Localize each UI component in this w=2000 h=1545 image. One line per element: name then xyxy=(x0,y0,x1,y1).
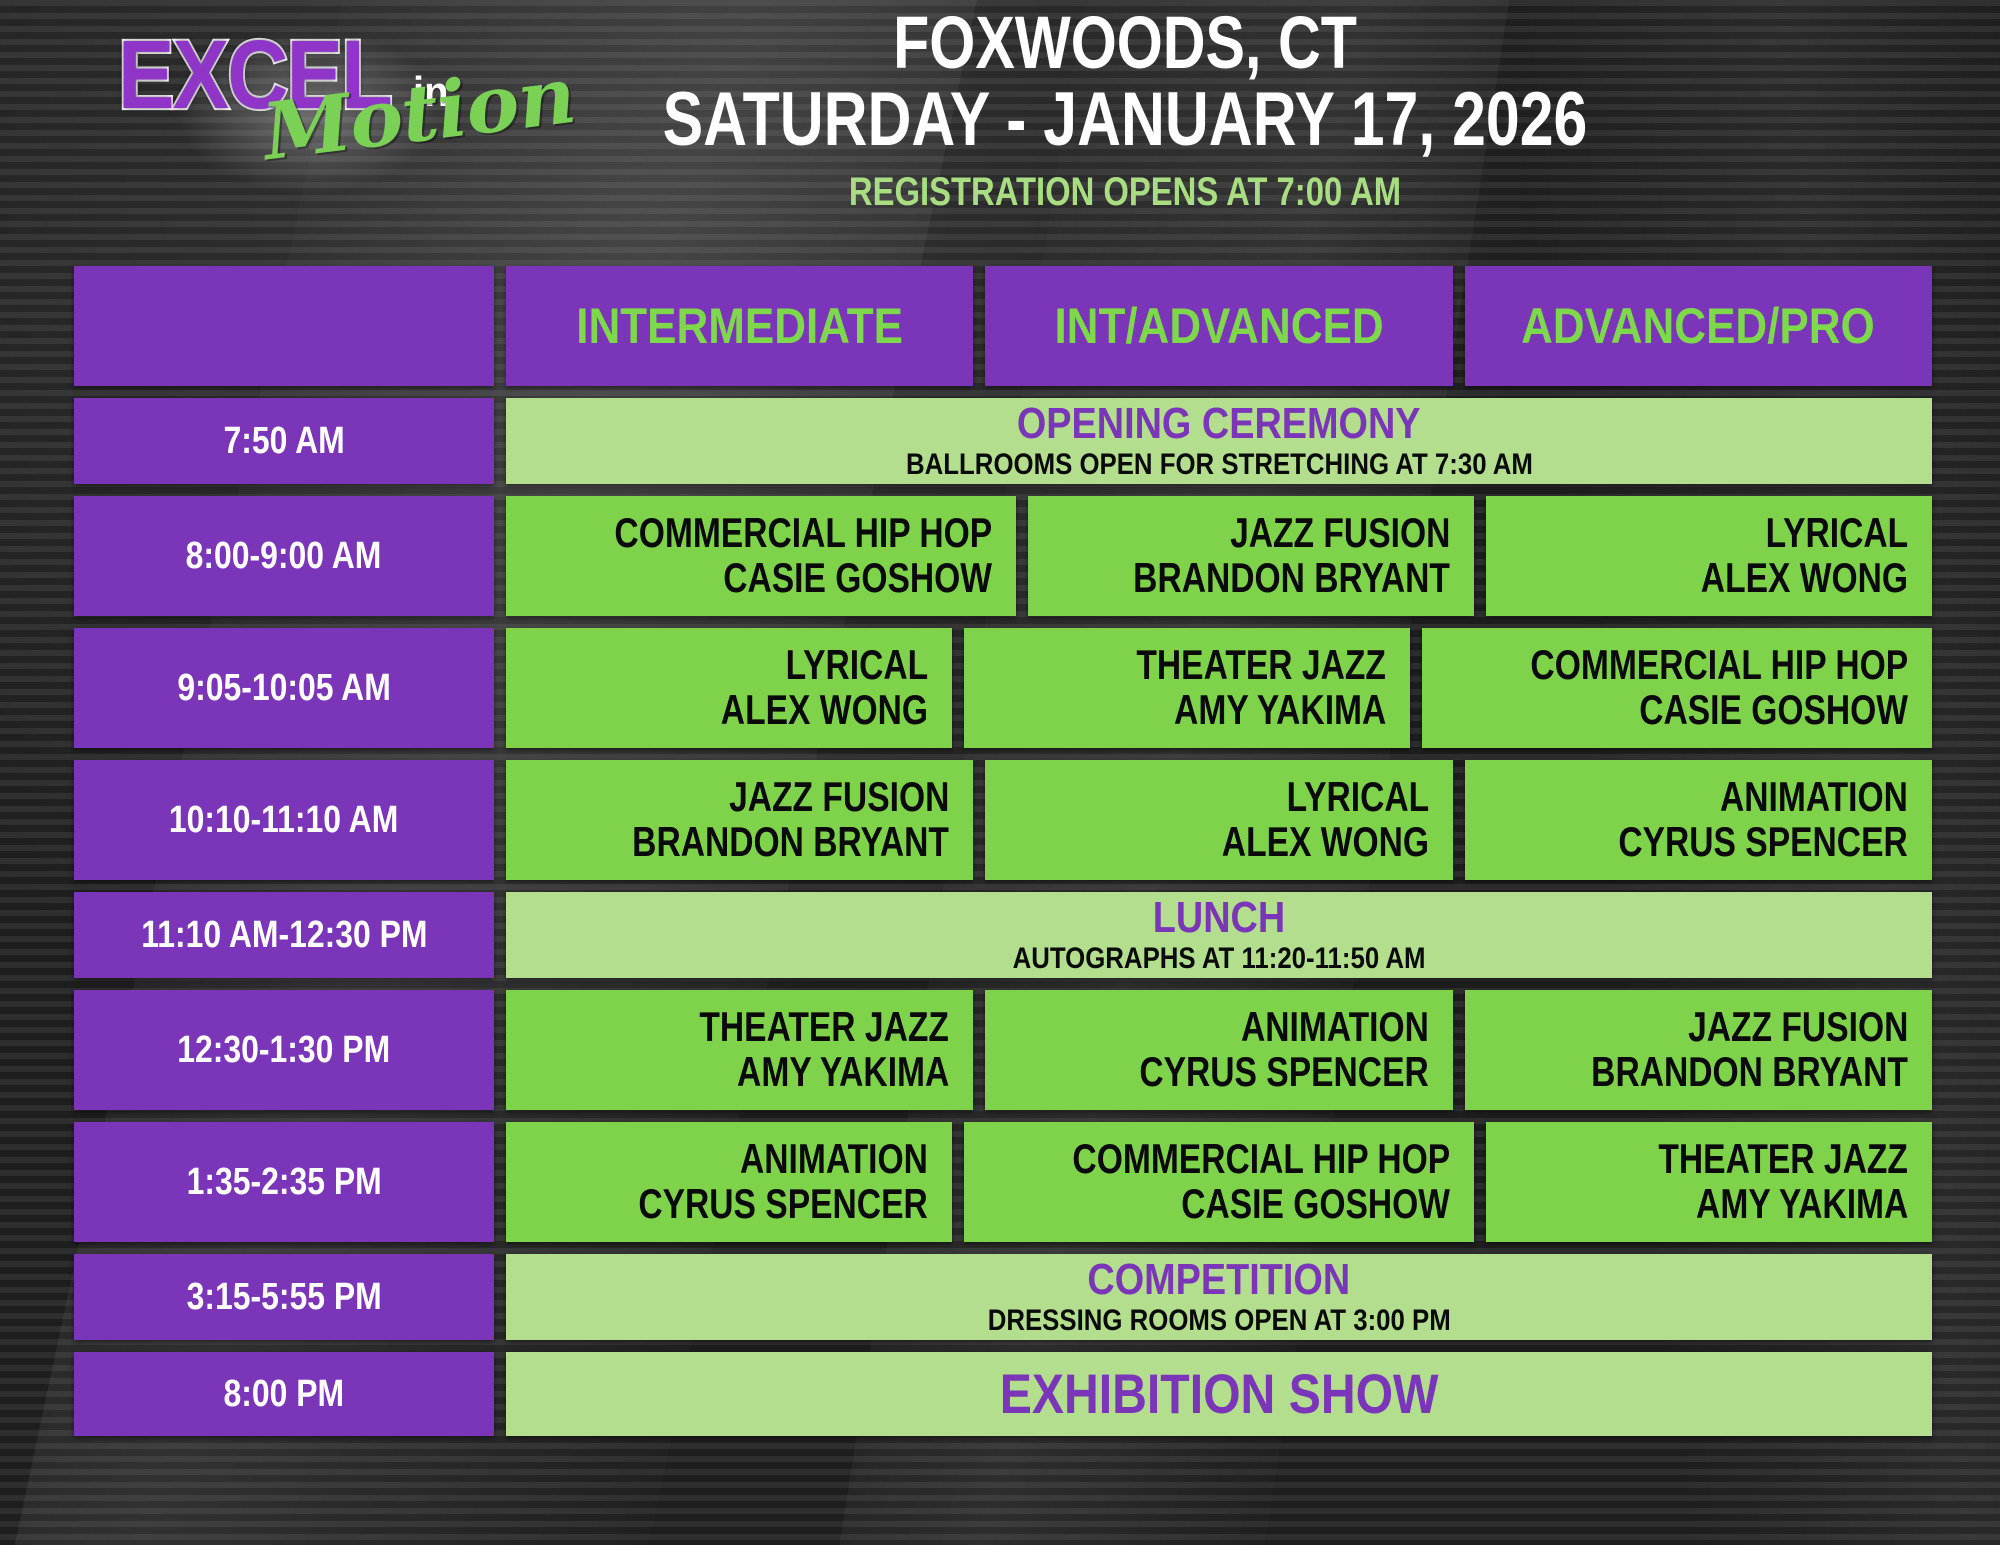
poster-header: EXCEL in Motion FOXWOODS, CT SATURDAY - … xyxy=(0,0,2000,262)
class-style: JAZZ FUSION xyxy=(1230,511,1450,556)
schedule-grid: INTERMEDIATE INT/ADVANCED ADVANCED/PRO 7… xyxy=(74,266,1932,1436)
class-cell[interactable]: JAZZ FUSION BRANDON BRYANT xyxy=(1028,496,1474,616)
class-cell[interactable]: ANIMATION CYRUS SPENCER xyxy=(985,990,1452,1110)
class-cell[interactable]: COMMERCIAL HIP HOP CASIE GOSHOW xyxy=(1422,628,1932,748)
event-subtitle: DRESSING ROOMS OPEN AT 3:00 PM xyxy=(987,1304,1450,1337)
class-style: JAZZ FUSION xyxy=(1688,1005,1908,1050)
class-teacher: CYRUS SPENCER xyxy=(1619,820,1908,865)
class-cell[interactable]: COMMERCIAL HIP HOP CASIE GOSHOW xyxy=(964,1122,1474,1242)
class-style: LYRICAL xyxy=(1286,775,1429,820)
time-label: 8:00-9:00 AM xyxy=(186,535,382,578)
schedule-row: 8:00 PM EXHIBITION SHOW xyxy=(74,1352,1932,1436)
time-cell: 8:00 PM xyxy=(74,1352,494,1436)
class-cell[interactable]: LYRICAL ALEX WONG xyxy=(506,628,952,748)
class-teacher: AMY YAKIMA xyxy=(1696,1182,1908,1227)
class-style: THEATER JAZZ xyxy=(1658,1137,1908,1182)
time-cell: 7:50 AM xyxy=(74,398,494,484)
class-cell[interactable]: JAZZ FUSION BRANDON BRYANT xyxy=(506,760,973,880)
event-title: EXHIBITION SHOW xyxy=(1000,1366,1439,1422)
class-cell[interactable]: THEATER JAZZ AMY YAKIMA xyxy=(964,628,1410,748)
class-teacher: ALEX WONG xyxy=(1701,556,1908,601)
time-label: 8:00 PM xyxy=(224,1373,345,1416)
class-teacher: AMY YAKIMA xyxy=(737,1050,949,1095)
class-style: LYRICAL xyxy=(785,643,928,688)
class-cell[interactable]: JAZZ FUSION BRANDON BRYANT xyxy=(1465,990,1932,1110)
registration-note: REGISTRATION OPENS AT 7:00 AM xyxy=(613,170,1638,215)
time-label: 9:05-10:05 AM xyxy=(177,667,390,710)
class-teacher: CASIE GOSHOW xyxy=(1181,1182,1450,1227)
time-cell: 8:00-9:00 AM xyxy=(74,496,494,616)
class-cell[interactable]: COMMERCIAL HIP HOP CASIE GOSHOW xyxy=(506,496,1016,616)
class-cell[interactable]: THEATER JAZZ AMY YAKIMA xyxy=(1486,1122,1932,1242)
time-cell: 12:30-1:30 PM xyxy=(74,990,494,1110)
class-teacher: CYRUS SPENCER xyxy=(639,1182,928,1227)
column-header-intermediate[interactable]: INTERMEDIATE xyxy=(506,266,973,386)
class-style: ANIMATION xyxy=(1241,1005,1429,1050)
schedule-row: 12:30-1:30 PM THEATER JAZZ AMY YAKIMA AN… xyxy=(74,990,1932,1110)
class-teacher: CASIE GOSHOW xyxy=(1639,688,1908,733)
column-header-label: INT/ADVANCED xyxy=(1054,297,1383,355)
class-cell[interactable]: THEATER JAZZ AMY YAKIMA xyxy=(506,990,973,1110)
class-style: ANIMATION xyxy=(1720,775,1908,820)
class-style: LYRICAL xyxy=(1765,511,1908,556)
column-header-int-advanced[interactable]: INT/ADVANCED xyxy=(985,266,1452,386)
time-label: 1:35-2:35 PM xyxy=(186,1161,381,1204)
event-subtitle: BALLROOMS OPEN FOR STRETCHING AT 7:30 AM xyxy=(906,448,1533,481)
event-banner-opening-ceremony[interactable]: OPENING CEREMONY BALLROOMS OPEN FOR STRE… xyxy=(506,398,1932,484)
class-teacher: BRANDON BRYANT xyxy=(1591,1050,1908,1095)
event-banner-exhibition-show[interactable]: EXHIBITION SHOW xyxy=(506,1352,1932,1436)
event-banner-lunch[interactable]: LUNCH AUTOGRAPHS AT 11:20-11:50 AM xyxy=(506,892,1932,978)
schedule-row: 8:00-9:00 AM COMMERCIAL HIP HOP CASIE GO… xyxy=(74,496,1932,616)
column-header-row: INTERMEDIATE INT/ADVANCED ADVANCED/PRO xyxy=(74,266,1932,386)
class-teacher: BRANDON BRYANT xyxy=(633,820,950,865)
event-title: OPENING CEREMONY xyxy=(1017,402,1421,446)
class-style: THEATER JAZZ xyxy=(700,1005,950,1050)
time-cell: 3:15-5:55 PM xyxy=(74,1254,494,1340)
date-title: SATURDAY - JANUARY 17, 2026 xyxy=(625,84,1625,156)
excel-in-motion-logo: EXCEL in Motion xyxy=(118,6,518,221)
class-teacher: ALEX WONG xyxy=(721,688,928,733)
schedule-row: 1:35-2:35 PM ANIMATION CYRUS SPENCER COM… xyxy=(74,1122,1932,1242)
class-cell[interactable]: ANIMATION CYRUS SPENCER xyxy=(506,1122,952,1242)
schedule-poster: EXCEL in Motion FOXWOODS, CT SATURDAY - … xyxy=(0,0,2000,1545)
class-style: JAZZ FUSION xyxy=(729,775,949,820)
class-style: COMMERCIAL HIP HOP xyxy=(614,511,992,556)
column-header-advanced-pro[interactable]: ADVANCED/PRO xyxy=(1465,266,1932,386)
class-teacher: CYRUS SPENCER xyxy=(1139,1050,1428,1095)
grid-corner-cell xyxy=(74,266,494,386)
time-label: 3:15-5:55 PM xyxy=(186,1276,381,1319)
time-cell: 1:35-2:35 PM xyxy=(74,1122,494,1242)
venue-title: FOXWOODS, CT xyxy=(625,8,1625,78)
class-cell[interactable]: ANIMATION CYRUS SPENCER xyxy=(1465,760,1932,880)
event-subtitle: AUTOGRAPHS AT 11:20-11:50 AM xyxy=(1013,942,1426,975)
class-teacher: BRANDON BRYANT xyxy=(1133,556,1450,601)
schedule-row: 9:05-10:05 AM LYRICAL ALEX WONG THEATER … xyxy=(74,628,1932,748)
schedule-row: 3:15-5:55 PM COMPETITION DRESSING ROOMS … xyxy=(74,1254,1932,1340)
title-block: FOXWOODS, CT SATURDAY - JANUARY 17, 2026… xyxy=(500,8,1750,215)
time-label: 7:50 AM xyxy=(223,420,344,463)
time-label: 10:10-11:10 AM xyxy=(169,799,398,842)
event-banner-competition[interactable]: COMPETITION DRESSING ROOMS OPEN AT 3:00 … xyxy=(506,1254,1932,1340)
class-style: COMMERCIAL HIP HOP xyxy=(1530,643,1908,688)
class-teacher: ALEX WONG xyxy=(1221,820,1428,865)
time-label: 12:30-1:30 PM xyxy=(178,1029,391,1072)
schedule-row: 11:10 AM-12:30 PM LUNCH AUTOGRAPHS AT 11… xyxy=(74,892,1932,978)
class-cell[interactable]: LYRICAL ALEX WONG xyxy=(985,760,1452,880)
class-cell[interactable]: LYRICAL ALEX WONG xyxy=(1486,496,1932,616)
schedule-row: 10:10-11:10 AM JAZZ FUSION BRANDON BRYAN… xyxy=(74,760,1932,880)
time-cell: 10:10-11:10 AM xyxy=(74,760,494,880)
event-title: LUNCH xyxy=(1153,896,1285,940)
time-cell: 11:10 AM-12:30 PM xyxy=(74,892,494,978)
time-cell: 9:05-10:05 AM xyxy=(74,628,494,748)
class-style: COMMERCIAL HIP HOP xyxy=(1072,1137,1450,1182)
column-header-label: ADVANCED/PRO xyxy=(1521,297,1875,355)
class-teacher: AMY YAKIMA xyxy=(1174,688,1386,733)
class-style: ANIMATION xyxy=(740,1137,928,1182)
class-teacher: CASIE GOSHOW xyxy=(723,556,992,601)
class-style: THEATER JAZZ xyxy=(1136,643,1386,688)
schedule-row: 7:50 AM OPENING CEREMONY BALLROOMS OPEN … xyxy=(74,398,1932,484)
event-title: COMPETITION xyxy=(1088,1258,1351,1302)
column-header-label: INTERMEDIATE xyxy=(576,297,903,355)
time-label: 11:10 AM-12:30 PM xyxy=(141,914,427,957)
